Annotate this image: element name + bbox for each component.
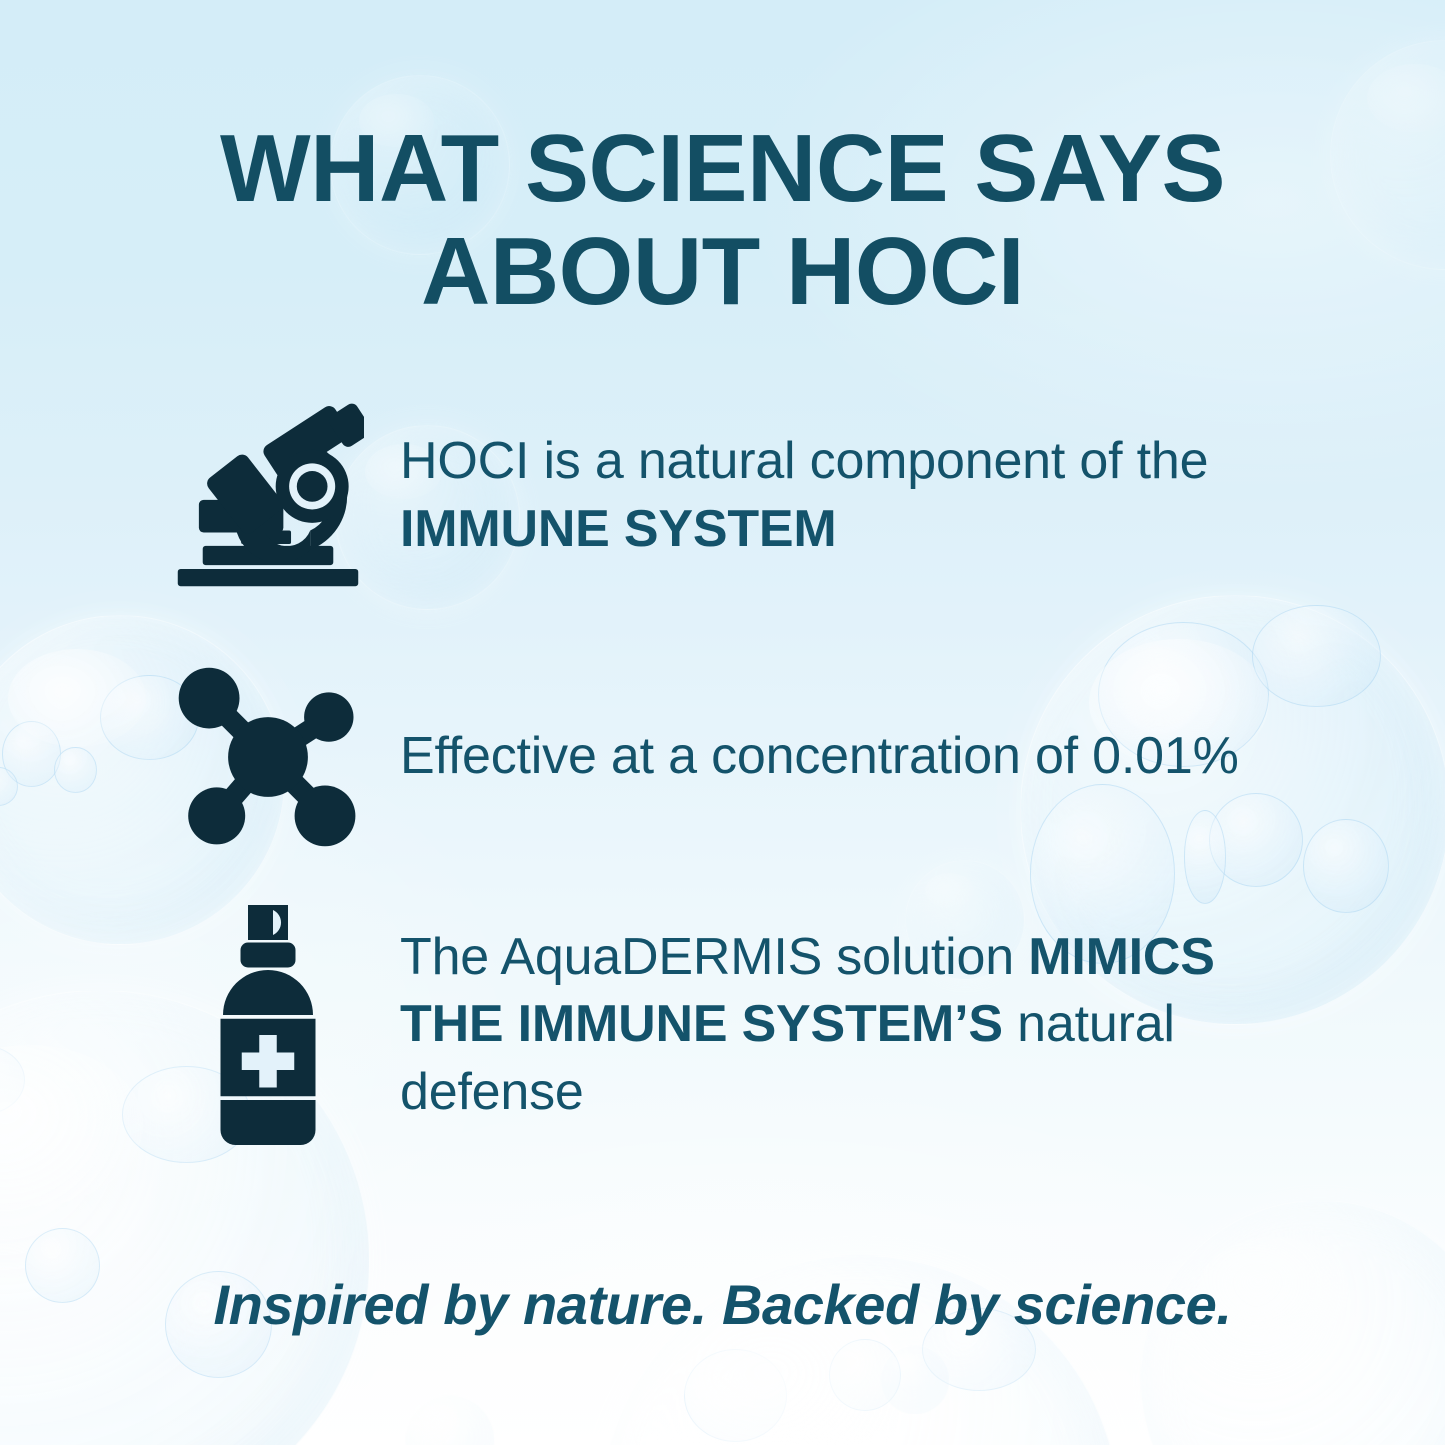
- molecule-icon: [135, 662, 400, 852]
- fact-row: HOCI is a natural component of the IMMUN…: [135, 400, 1315, 592]
- fact-text-regular: HOCI is a natural component of the: [400, 432, 1208, 490]
- microscope-icon: [135, 400, 400, 592]
- fact-text-regular: Effective at a concentration of 0.01%: [400, 727, 1239, 785]
- fact-row: The AquaDERMIS solution MIMICS THE IMMUN…: [135, 900, 1315, 1150]
- fact-row: Effective at a concentration of 0.01%: [135, 662, 1315, 852]
- fact-text-bold: IMMUNE SYSTEM: [400, 500, 837, 558]
- page-title-line-2: ABOUT HOCI: [70, 221, 1375, 324]
- spray-bottle-icon: [135, 900, 400, 1150]
- tagline: Inspired by nature. Backed by science.: [0, 1272, 1445, 1337]
- page-title-line-1: WHAT SCIENCE SAYS: [70, 118, 1375, 221]
- fact-text: Effective at a concentration of 0.01%: [400, 723, 1315, 791]
- fact-text: The AquaDERMIS solution MIMICS THE IMMUN…: [400, 924, 1315, 1127]
- page-title: WHAT SCIENCE SAYS ABOUT HOCI: [0, 118, 1445, 323]
- fact-text: HOCI is a natural component of the IMMUN…: [400, 428, 1315, 563]
- fact-text-regular: The AquaDERMIS solution: [400, 928, 1028, 986]
- infographic-poster: WHAT SCIENCE SAYS ABOUT HOCI: [0, 0, 1445, 1445]
